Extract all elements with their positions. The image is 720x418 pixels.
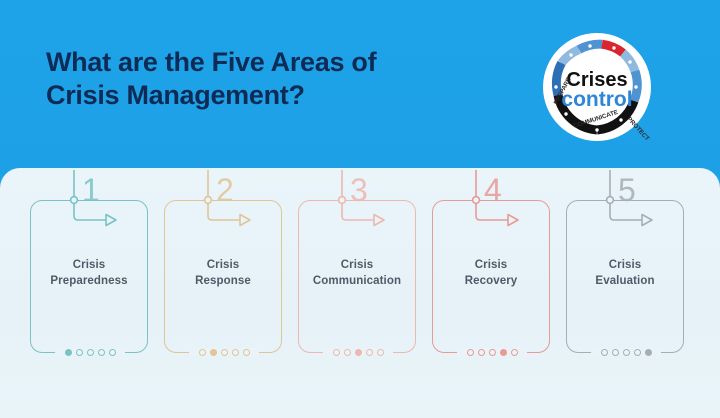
progress-dot [377,349,384,356]
stage-card[interactable]: Crisis Communication [298,200,416,353]
progress-dot [232,349,239,356]
progress-dot [511,349,518,356]
stage-card[interactable]: Crisis Recovery [432,200,550,353]
progress-dot [601,349,608,356]
stage-card[interactable]: Crisis Evaluation [566,200,684,353]
page-title: What are the Five Areas of Crisis Manage… [46,46,516,112]
progress-dot [243,349,250,356]
progress-dot [333,349,340,356]
stage-label: Crisis Response [165,257,281,289]
progress-dot [634,349,641,356]
stage-label: Crisis Recovery [433,257,549,289]
progress-dot [467,349,474,356]
progress-dot [98,349,105,356]
progress-dot-active [645,349,652,356]
stage-card[interactable]: Crisis Preparedness [30,200,148,353]
stage-label: Crisis Preparedness [31,257,147,289]
progress-dots [433,346,551,358]
progress-dot [612,349,619,356]
progress-dot [76,349,83,356]
stage-label: Crisis Communication [299,257,415,289]
progress-dot-active [210,349,217,356]
progress-dot [199,349,206,356]
progress-dot [366,349,373,356]
progress-dot [87,349,94,356]
progress-dots [31,346,149,358]
progress-dot-active [355,349,362,356]
progress-dot-active [500,349,507,356]
progress-dot [478,349,485,356]
progress-dot-active [65,349,72,356]
progress-dots [165,346,283,358]
progress-dot [623,349,630,356]
stages-row: Crisis Preparedness1Crisis Response2Cris… [0,168,720,418]
stage-label: Crisis Evaluation [567,257,683,289]
crises-control-logo: Crises control PREPARE COMMUNICATE PROTE… [541,31,653,143]
logo-word-bottom: control [561,88,632,111]
progress-dots [567,346,685,358]
progress-dot [344,349,351,356]
progress-dot [109,349,116,356]
stage-card[interactable]: Crisis Response [164,200,282,353]
infographic-canvas: What are the Five Areas of Crisis Manage… [0,0,720,418]
progress-dot [221,349,228,356]
progress-dots [299,346,417,358]
progress-dot [489,349,496,356]
